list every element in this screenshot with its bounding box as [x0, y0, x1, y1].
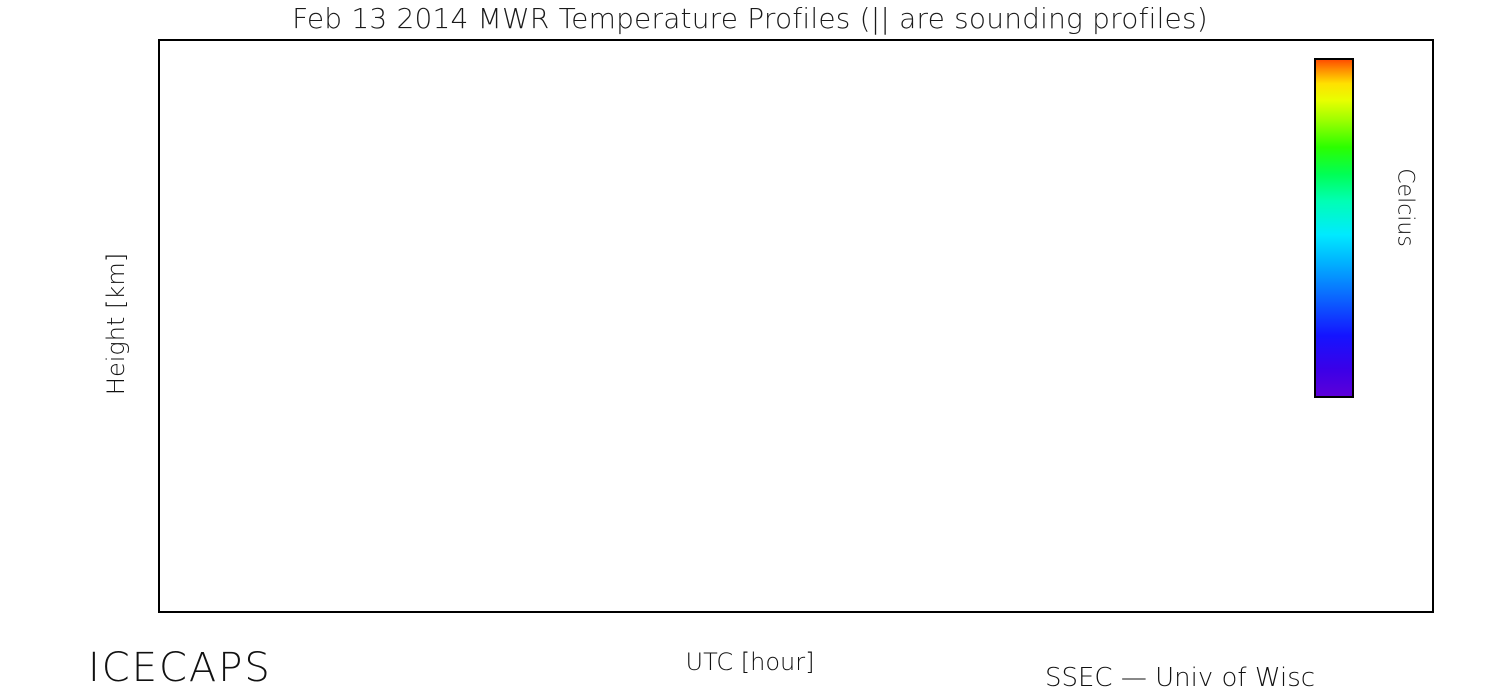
colorbar-title: Celcius — [1393, 133, 1418, 283]
heatmap-field — [160, 41, 1432, 611]
colorbar-gradient — [1316, 60, 1352, 396]
chart-root: Feb 13 2014 MWR Temperature Profiles (||… — [0, 0, 1500, 700]
heatmap-canvas — [160, 41, 1432, 611]
footer-left-label: ICECAPS — [88, 645, 272, 691]
chart-title: Feb 13 2014 MWR Temperature Profiles (||… — [0, 2, 1500, 35]
footer-right-label: SSEC — Univ of Wisc — [1045, 663, 1315, 693]
colorbar — [1314, 58, 1354, 398]
y-axis-title: Height [km] — [102, 194, 130, 454]
plot-area — [158, 39, 1434, 613]
